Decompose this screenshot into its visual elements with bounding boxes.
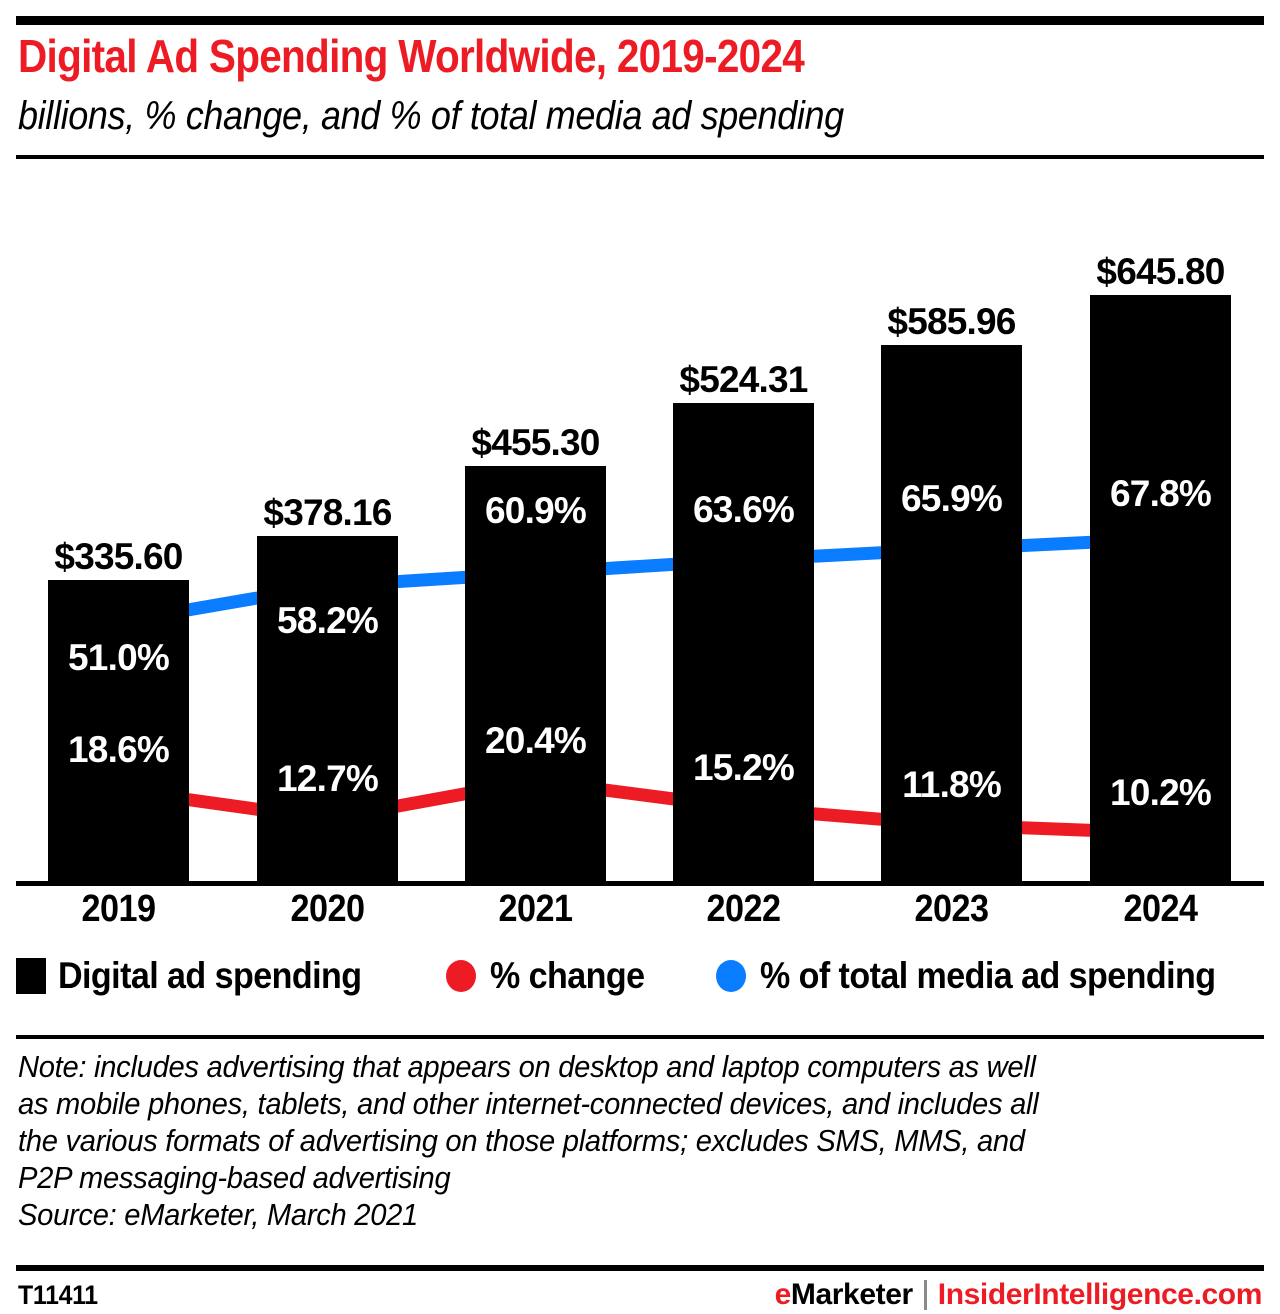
brand-emarketer: eMarketer bbox=[775, 1278, 913, 1312]
source-line: Source: eMarketer, March 2021 bbox=[18, 1196, 1193, 1233]
bar-value-label: $378.16 bbox=[217, 492, 438, 534]
legend-item-2[interactable]: % change bbox=[446, 955, 658, 997]
brand-marketer-text: Marketer bbox=[791, 1278, 913, 1311]
note-line: as mobile phones, tablets, and other int… bbox=[18, 1085, 1193, 1122]
x-axis-tick-2021: 2021 bbox=[445, 888, 626, 931]
footer-chart-code: T11411 bbox=[18, 1280, 98, 1311]
legend-circle-swatch-icon bbox=[716, 960, 746, 992]
pct-change-label: 10.2% bbox=[1060, 772, 1261, 814]
legend-item-label: % change bbox=[490, 955, 644, 997]
x-axis-tick-2019: 2019 bbox=[28, 888, 209, 931]
legend-item-3[interactable]: % of total media ad spending bbox=[716, 955, 1255, 997]
pct-of-total-label: 60.9% bbox=[435, 490, 636, 532]
legend-bottom-rule bbox=[16, 1035, 1264, 1039]
footer-brand: eMarketer InsiderIntelligence.com bbox=[775, 1278, 1262, 1312]
x-axis-tick-2024: 2024 bbox=[1070, 888, 1251, 931]
bar-value-label: $645.80 bbox=[1050, 251, 1271, 293]
legend-item-label: % of total media ad spending bbox=[760, 955, 1215, 997]
legend-square-swatch-icon bbox=[16, 958, 46, 994]
bar-value-label: $585.96 bbox=[841, 301, 1062, 343]
notes-block: Note: includes advertising that appears … bbox=[18, 1048, 1268, 1233]
bar-value-label: $335.60 bbox=[8, 536, 229, 578]
pct-change-label: 11.8% bbox=[851, 764, 1052, 806]
pct-of-total-label: 67.8% bbox=[1060, 473, 1261, 515]
legend-item-label: Digital ad spending bbox=[58, 955, 361, 997]
note-line: the various formats of advertising on th… bbox=[18, 1122, 1193, 1159]
x-axis-tick-2020: 2020 bbox=[237, 888, 418, 931]
chart-legend: Digital ad spending% change% of total me… bbox=[16, 955, 1264, 1011]
x-axis-line bbox=[16, 881, 1264, 886]
note-line: Note: includes advertising that appears … bbox=[18, 1048, 1193, 1085]
emarketer-chart-card: Digital Ad Spending Worldwide, 2019-2024… bbox=[0, 0, 1280, 1314]
brand-separator bbox=[924, 1280, 927, 1310]
note-line: P2P messaging-based advertising bbox=[18, 1159, 1193, 1196]
bar-value-label: $455.30 bbox=[425, 422, 646, 464]
bar-2022 bbox=[673, 403, 814, 884]
pct-change-label: 18.6% bbox=[18, 729, 219, 771]
pct-of-total-label: 63.6% bbox=[643, 489, 844, 531]
pct-change-label: 15.2% bbox=[643, 747, 844, 789]
footer-rule bbox=[16, 1265, 1264, 1271]
legend-circle-swatch-icon bbox=[446, 960, 476, 992]
brand-insiderintelligence: InsiderIntelligence.com bbox=[938, 1278, 1262, 1312]
brand-e-letter: e bbox=[775, 1278, 791, 1311]
chart-plot-area: $335.60$378.16$455.30$524.31$585.96$645.… bbox=[0, 0, 1280, 900]
pct-change-label: 12.7% bbox=[227, 758, 428, 800]
legend-item-1[interactable]: Digital ad spending bbox=[16, 955, 388, 997]
pct-change-label: 20.4% bbox=[435, 720, 636, 762]
x-axis-tick-2023: 2023 bbox=[861, 888, 1042, 931]
x-axis-tick-2022: 2022 bbox=[653, 888, 834, 931]
pct-of-total-label: 65.9% bbox=[851, 478, 1052, 520]
bar-value-label: $524.31 bbox=[633, 359, 854, 401]
bar-2020 bbox=[257, 536, 398, 884]
pct-of-total-label: 51.0% bbox=[18, 637, 219, 679]
pct-of-total-label: 58.2% bbox=[227, 600, 428, 642]
